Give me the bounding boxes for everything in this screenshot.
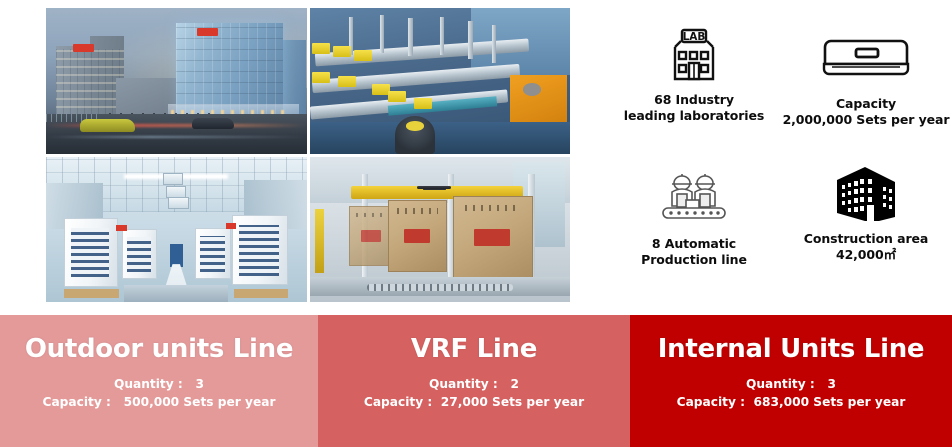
banner-details: Quantity : 3 Capacity : 500,000 Sets per… xyxy=(0,376,318,411)
guide-post xyxy=(492,25,496,63)
office-building-icon xyxy=(780,163,952,225)
guide-post xyxy=(380,15,384,53)
guide-post xyxy=(468,21,472,59)
wooden-pallet xyxy=(64,289,119,298)
stat-capacity: Capacity 2,000,000 Sets per year xyxy=(780,28,952,128)
ceiling-duct xyxy=(166,186,186,198)
brand-logo-on-unit xyxy=(226,223,236,229)
photo-robotic-palletizer-packing xyxy=(310,157,571,303)
packing-conveyor xyxy=(310,277,571,296)
guide-post xyxy=(440,17,444,55)
banner-quantity: Quantity : 2 xyxy=(318,376,630,394)
floor-conveyor xyxy=(124,285,228,302)
rotary-hub xyxy=(395,116,434,154)
outdoor-ac-unit xyxy=(122,229,158,279)
brand-logo-sign-tower xyxy=(197,28,218,36)
yellow-clamp xyxy=(414,98,432,109)
production-lines-banner: Outdoor units Line Quantity : 3 Capacity… xyxy=(0,315,952,447)
yellow-clamp xyxy=(312,72,330,83)
banner-title: VRF Line xyxy=(318,334,630,364)
photo-stamping-production-machine xyxy=(310,8,571,154)
banner-panel-outdoor-units-line[interactable]: Outdoor units Line Quantity : 3 Capacity… xyxy=(0,315,318,447)
workers-conveyor-icon xyxy=(608,168,780,230)
outdoor-ac-unit xyxy=(64,218,118,287)
carton-brand-logo xyxy=(404,229,430,243)
ceiling-duct xyxy=(168,197,188,209)
yellow-clamp xyxy=(354,50,372,61)
banner-panel-vrf-line[interactable]: VRF Line Quantity : 2 Capacity : 27,000 … xyxy=(318,315,630,447)
stat-construction-area-label: Construction area 42,000㎡ xyxy=(780,231,952,263)
stat-production-line: 8 Automatic Production line xyxy=(608,168,780,268)
guide-post xyxy=(408,18,412,56)
yellow-clamp xyxy=(338,76,356,87)
carton-brand-logo xyxy=(361,230,381,242)
photo-outdoor-unit-assembly-aisle xyxy=(46,157,307,303)
banner-quantity: Quantity : 3 xyxy=(630,376,952,394)
facility-stats: LAB 68 Industry leading laboratories xyxy=(608,8,952,303)
brand-logo-sign-left xyxy=(73,44,94,51)
yellow-clamp xyxy=(388,91,406,102)
stat-laboratories: LAB 68 Industry leading laboratories xyxy=(608,24,780,124)
banner-title: Outdoor units Line xyxy=(0,334,318,364)
banner-capacity: Capacity : 27,000 Sets per year xyxy=(318,394,630,412)
carton-print-marks xyxy=(465,205,521,212)
yellow-guard-bar xyxy=(315,209,324,273)
stat-capacity-label: Capacity 2,000,000 Sets per year xyxy=(780,96,952,128)
stat-laboratories-label: 68 Industry leading laboratories xyxy=(608,92,780,124)
far-doorway xyxy=(170,244,183,267)
air-conditioner-icon xyxy=(780,28,952,90)
carton-brand-logo xyxy=(474,229,510,245)
ceiling-duct xyxy=(163,173,183,185)
outdoor-ac-unit xyxy=(232,215,289,285)
yellow-clamp xyxy=(312,43,330,54)
outdoor-ac-unit xyxy=(195,228,231,279)
photo-corporate-campus-exterior xyxy=(46,8,307,154)
stat-production-line-label: 8 Automatic Production line xyxy=(608,236,780,268)
banner-capacity: Capacity : 500,000 Sets per year xyxy=(0,394,318,412)
stat-construction-area: Construction area 42,000㎡ xyxy=(780,163,952,263)
carton-box xyxy=(388,200,447,272)
banner-title: Internal Units Line xyxy=(630,334,952,364)
machine-base xyxy=(310,122,571,154)
banner-details: Quantity : 3 Capacity : 683,000 Sets per… xyxy=(630,376,952,411)
gripper-head xyxy=(423,189,445,190)
banner-capacity: Capacity : 683,000 Sets per year xyxy=(630,394,952,412)
yellow-clamp xyxy=(333,46,351,57)
carton-print-marks xyxy=(397,208,438,214)
carton-print-marks xyxy=(356,213,388,218)
carton-box xyxy=(453,196,533,279)
lab-building-icon: LAB xyxy=(608,24,780,86)
svg-text:LAB: LAB xyxy=(683,31,706,43)
banner-details: Quantity : 2 Capacity : 27,000 Sets per … xyxy=(318,376,630,411)
dark-car xyxy=(192,118,234,129)
photo-grid xyxy=(46,8,570,302)
banner-panel-internal-units-line[interactable]: Internal Units Line Quantity : 3 Capacit… xyxy=(630,315,952,447)
wooden-pallet xyxy=(234,289,289,298)
banner-quantity: Quantity : 3 xyxy=(0,376,318,394)
brand-logo-on-unit xyxy=(116,225,126,231)
yellow-car xyxy=(80,119,135,132)
